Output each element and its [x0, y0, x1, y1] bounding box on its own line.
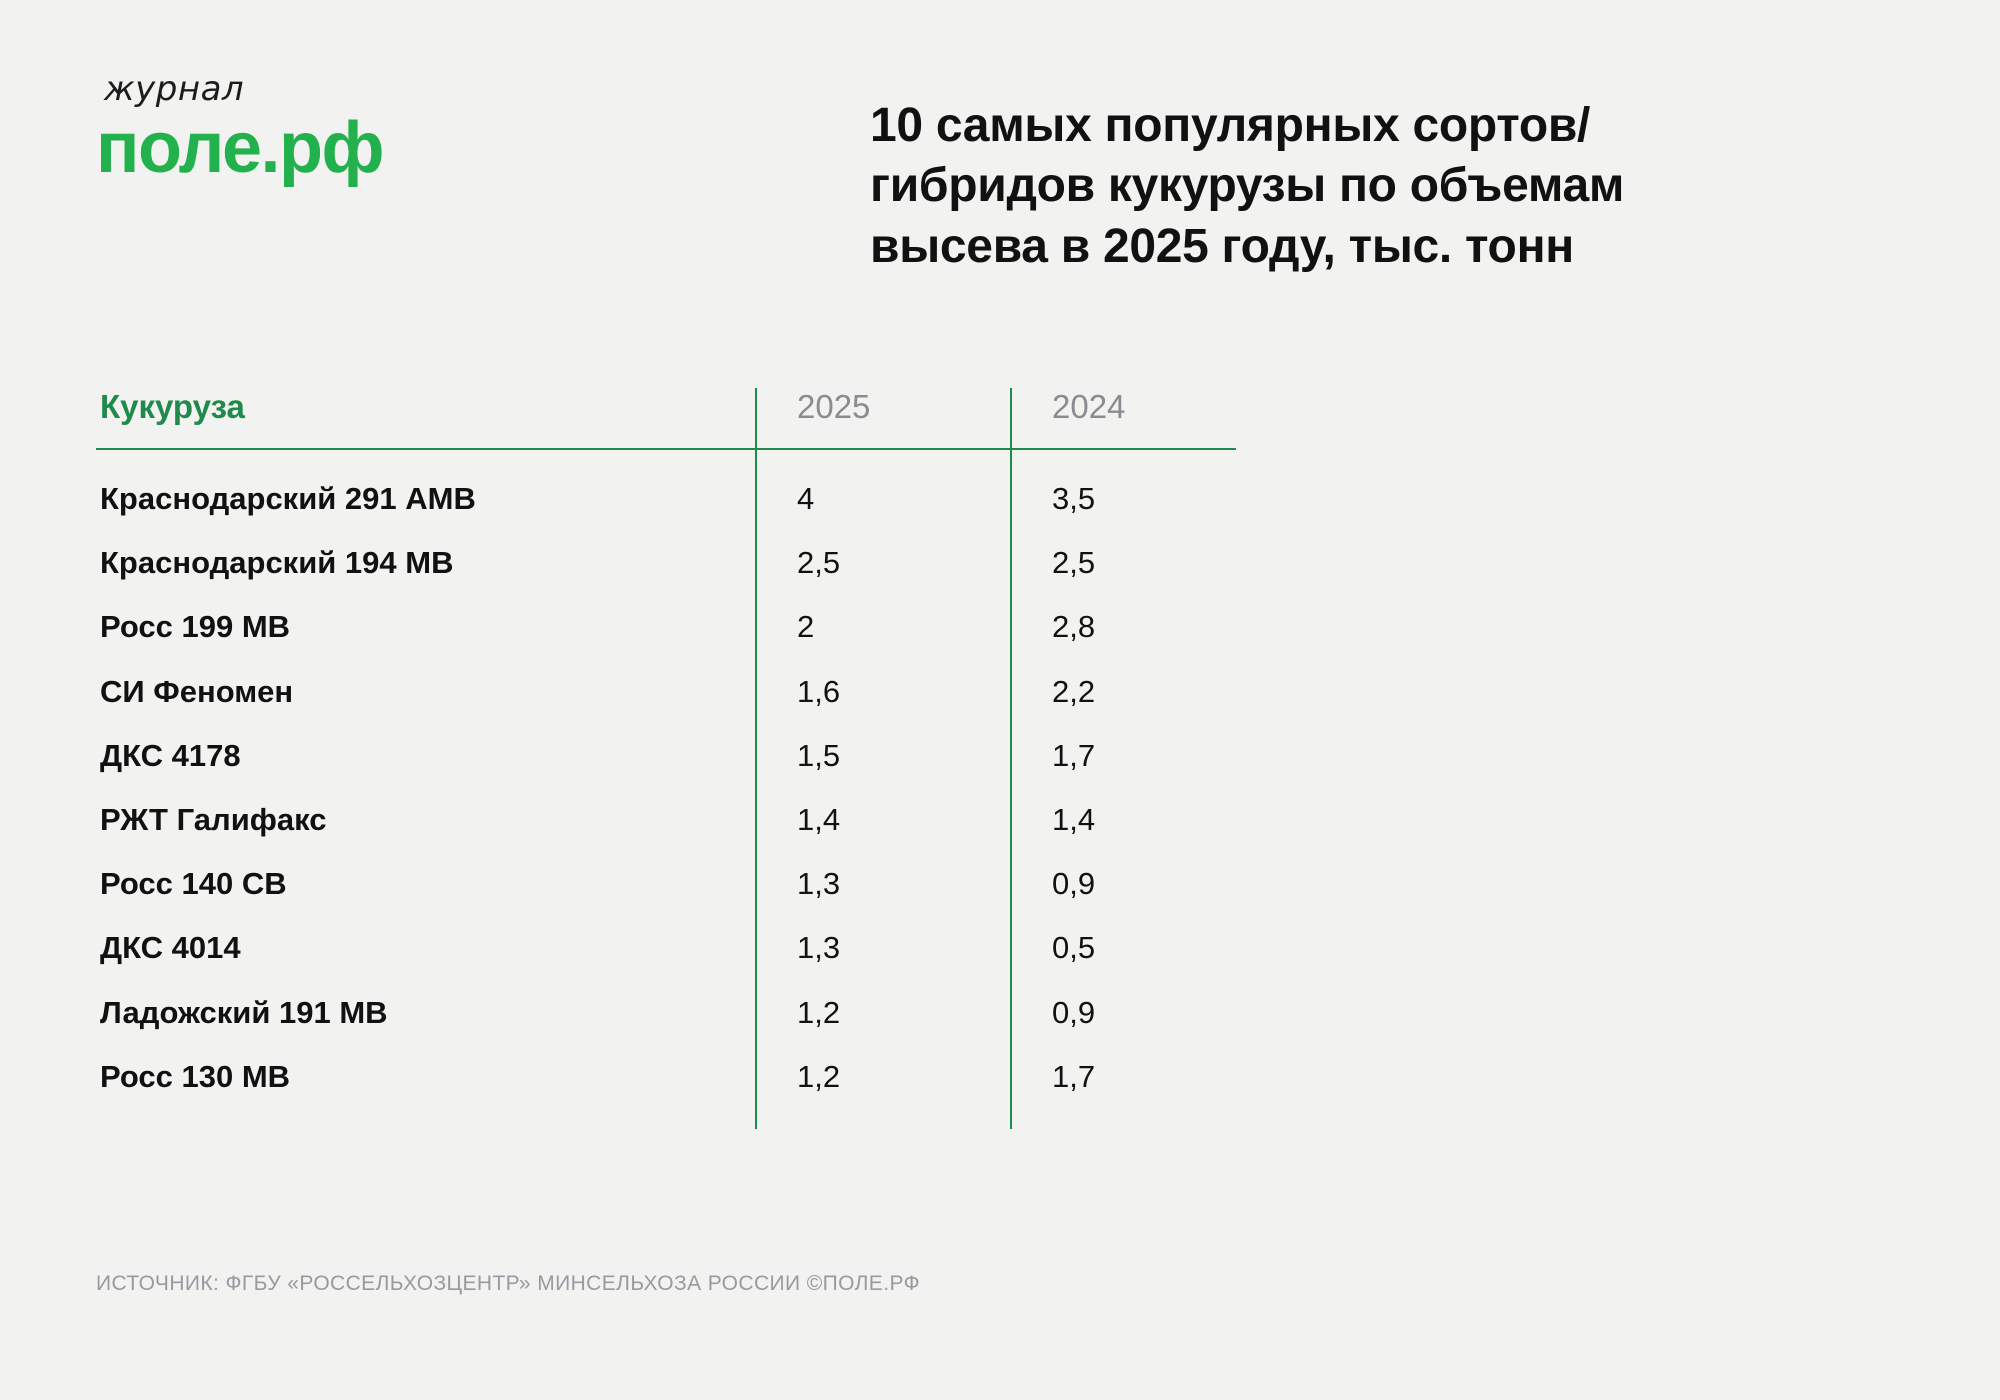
table-row: Краснодарский 194 МВ 2,5 2,5: [96, 530, 1236, 594]
table-row: СИ Феномен 1,6 2,2: [96, 659, 1236, 723]
cell-value-2025: 1,2: [756, 1044, 1011, 1129]
cell-hybrid-name: СИ Феномен: [96, 659, 756, 723]
table-row: Ладожский 191 МВ 1,2 0,9: [96, 980, 1236, 1044]
cell-value-2024: 2,5: [1011, 530, 1236, 594]
page-title: 10 самых популярных сортов/ гибридов кук…: [870, 96, 1910, 277]
column-header-2025: 2025: [756, 388, 1011, 449]
cell-value-2025: 1,6: [756, 659, 1011, 723]
brand-name: поле.рф: [96, 112, 536, 184]
cell-value-2024: 0,9: [1011, 980, 1236, 1044]
cell-value-2024: 2,8: [1011, 594, 1236, 658]
cell-value-2024: 1,4: [1011, 787, 1236, 851]
cell-value-2025: 1,3: [756, 851, 1011, 915]
data-table-container: Кукуруза 2025 2024 Краснодарский 291 АМВ…: [96, 388, 1236, 1129]
cell-hybrid-name: ДКС 4014: [96, 915, 756, 979]
cell-value-2024: 3,5: [1011, 449, 1236, 530]
cell-hybrid-name: РЖТ Галифакс: [96, 787, 756, 851]
cell-hybrid-name: Краснодарский 291 АМВ: [96, 449, 756, 530]
cell-value-2024: 1,7: [1011, 723, 1236, 787]
cell-value-2024: 0,5: [1011, 915, 1236, 979]
cell-value-2025: 2,5: [756, 530, 1011, 594]
cell-hybrid-name: ДКС 4178: [96, 723, 756, 787]
cell-value-2025: 1,2: [756, 980, 1011, 1044]
table-header: Кукуруза 2025 2024: [96, 388, 1236, 449]
cell-value-2025: 4: [756, 449, 1011, 530]
table-row: Росс 140 СВ 1,3 0,9: [96, 851, 1236, 915]
brand-kicker: журнал: [104, 72, 536, 106]
column-header-crop: Кукуруза: [96, 388, 756, 449]
cell-hybrid-name: Росс 140 СВ: [96, 851, 756, 915]
page-title-line-3: высева в 2025 году, тыс. тонн: [870, 217, 1910, 277]
table-header-row: Кукуруза 2025 2024: [96, 388, 1236, 449]
cell-value-2025: 1,3: [756, 915, 1011, 979]
brand-logo: журнал поле.рф: [96, 72, 536, 182]
cell-hybrid-name: Росс 199 МВ: [96, 594, 756, 658]
column-header-2024: 2024: [1011, 388, 1236, 449]
cell-hybrid-name: Ладожский 191 МВ: [96, 980, 756, 1044]
table-row: ДКС 4014 1,3 0,5: [96, 915, 1236, 979]
cell-value-2025: 1,4: [756, 787, 1011, 851]
table-row: Росс 130 МВ 1,2 1,7: [96, 1044, 1236, 1129]
source-note: ИСТОЧНИК: ФГБУ «РОССЕЛЬХОЗЦЕНТР» МИНСЕЛЬ…: [96, 1272, 920, 1296]
table-row: Росс 199 МВ 2 2,8: [96, 594, 1236, 658]
cell-value-2025: 1,5: [756, 723, 1011, 787]
cell-value-2024: 1,7: [1011, 1044, 1236, 1129]
cell-hybrid-name: Краснодарский 194 МВ: [96, 530, 756, 594]
table-row: Краснодарский 291 АМВ 4 3,5: [96, 449, 1236, 530]
page-title-line-2: гибридов кукурузы по объемам: [870, 156, 1910, 216]
cell-value-2024: 0,9: [1011, 851, 1236, 915]
cell-value-2025: 2: [756, 594, 1011, 658]
data-table: Кукуруза 2025 2024 Краснодарский 291 АМВ…: [96, 388, 1236, 1129]
cell-hybrid-name: Росс 130 МВ: [96, 1044, 756, 1129]
cell-value-2024: 2,2: [1011, 659, 1236, 723]
infographic-page: журнал поле.рф 10 самых популярных сорто…: [0, 0, 2000, 1400]
page-title-line-1: 10 самых популярных сортов/: [870, 96, 1910, 156]
table-row: РЖТ Галифакс 1,4 1,4: [96, 787, 1236, 851]
table-row: ДКС 4178 1,5 1,7: [96, 723, 1236, 787]
table-body: Краснодарский 291 АМВ 4 3,5 Краснодарски…: [96, 449, 1236, 1129]
